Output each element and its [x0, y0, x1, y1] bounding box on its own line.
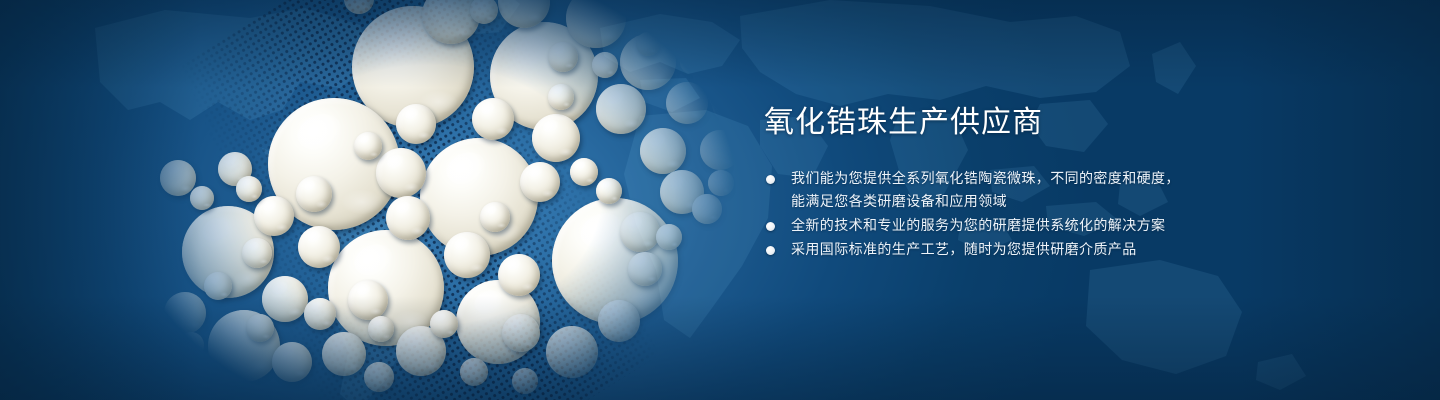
list-item: 我们能为您提供全系列氧化锆陶瓷微珠，不同的密度和硬度， 能满足您各类研磨设备和应…: [764, 168, 1384, 214]
feature-list: 我们能为您提供全系列氧化锆陶瓷微珠，不同的密度和硬度， 能满足您各类研磨设备和应…: [764, 168, 1384, 262]
bullet-dot-icon: [766, 246, 775, 255]
list-item-line-1: 采用国际标准的生产工艺，随时为您提供研磨介质产品: [791, 239, 1384, 262]
bullet-dot-icon: [766, 222, 775, 231]
banner-headline: 氧化锆珠生产供应商: [764, 104, 1384, 142]
list-item: 采用国际标准的生产工艺，随时为您提供研磨介质产品: [764, 239, 1384, 262]
list-item-line-1: 全新的技术和专业的服务为您的研磨提供系统化的解决方案: [791, 215, 1384, 238]
list-item: 全新的技术和专业的服务为您的研磨提供系统化的解决方案: [764, 215, 1384, 238]
banner-content: 氧化锆珠生产供应商 我们能为您提供全系列氧化锆陶瓷微珠，不同的密度和硬度， 能满…: [764, 104, 1384, 263]
hero-banner: 氧化锆珠生产供应商 我们能为您提供全系列氧化锆陶瓷微珠，不同的密度和硬度， 能满…: [0, 0, 1440, 400]
list-item-line-1: 我们能为您提供全系列氧化锆陶瓷微珠，不同的密度和硬度，: [791, 168, 1384, 191]
bullet-dot-icon: [766, 175, 775, 184]
list-item-line-2: 能满足您各类研磨设备和应用领域: [791, 191, 1384, 214]
